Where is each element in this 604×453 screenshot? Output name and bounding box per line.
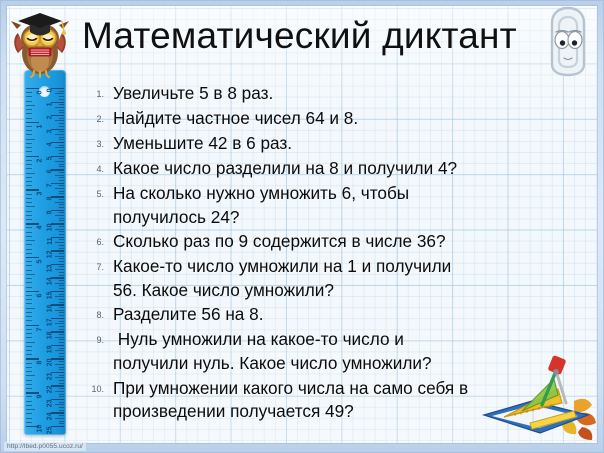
ruler-cm-minor-tick: [55, 418, 64, 419]
ruler-inch-label: 5: [37, 260, 44, 264]
ruler-inch-minor-tick: [26, 329, 32, 330]
ruler-cm-minor-tick: [59, 172, 65, 173]
ruler-cm-minor-tick: [59, 193, 65, 194]
ruler-inch-minor-tick: [26, 244, 32, 245]
ruler-cm-minor-tick: [59, 253, 65, 254]
ruler-inch-major-tick: [26, 122, 39, 123]
ruler-inch-minor-tick: [26, 282, 32, 283]
ruler-cm-minor-tick: [59, 402, 65, 403]
ruler-cm-minor-tick: [59, 272, 65, 273]
ruler-cm-minor-tick: [59, 139, 65, 140]
ruler-inch-minor-tick: [26, 367, 32, 368]
ruler-cm-label: 20: [47, 359, 54, 367]
ruler-inch-minor-tick: [26, 206, 35, 207]
ruler-inch-minor-tick: [26, 316, 32, 317]
ruler-inch-minor-tick: [26, 198, 32, 199]
ruler-inch-minor-tick: [26, 181, 32, 182]
list-item: 5. На сколько нужно умножить 6, чтобы по…: [78, 182, 548, 229]
ruler-cm-minor-tick: [59, 326, 65, 327]
ruler-inch-minor-tick: [26, 312, 32, 313]
ruler-cm-label: 4: [47, 143, 54, 147]
ruler-inch-minor-tick: [26, 194, 32, 195]
list-item-number: 6.: [78, 230, 113, 254]
ruler-cm-minor-tick: [55, 147, 64, 148]
ruler-cm-minor-tick: [59, 334, 65, 335]
ruler-cm-minor-tick: [59, 307, 65, 308]
ruler-inch-minor-tick: [26, 105, 35, 106]
ruler-cm-minor-tick: [59, 226, 65, 227]
ruler-inch-minor-tick: [26, 350, 32, 351]
ruler-inch-minor-tick: [26, 130, 32, 131]
list-item-number: 4.: [78, 157, 113, 181]
list-item-text: Сколько раз по 9 содержится в числе 36?: [113, 230, 548, 254]
ruler-cm-minor-tick: [59, 375, 65, 376]
ruler-cm-minor-tick: [59, 164, 65, 165]
ruler-cm-minor-tick: [55, 310, 64, 311]
ruler-cm-minor-tick: [55, 188, 64, 189]
ruler-inch-minor-tick: [26, 236, 32, 237]
ruler-cm-minor-tick: [59, 204, 65, 205]
ruler-cm-minor-tick: [59, 220, 65, 221]
ruler-inch-minor-tick: [26, 126, 32, 127]
ruler-cm-label: 11: [47, 237, 54, 244]
ruler-cm-minor-tick: [55, 229, 64, 230]
ruler-cm-minor-tick: [55, 202, 64, 203]
ruler-cm-label: 10: [47, 224, 54, 232]
ruler-cm-minor-tick: [55, 296, 64, 297]
ruler-cm-minor-tick: [59, 234, 65, 235]
ruler-inch-minor-tick: [26, 134, 32, 135]
ruler-inch-minor-tick: [26, 299, 32, 300]
list-item: 2. Найдите частное чисел 64 и 8.: [78, 107, 548, 131]
ruler-cm-minor-tick: [59, 99, 65, 100]
list-item-number: 5.: [78, 182, 113, 206]
ruler-cm-label: 6: [47, 170, 54, 174]
ruler-cm-minor-tick: [59, 321, 65, 322]
ruler-cm-minor-tick: [59, 312, 65, 313]
ruler-cm-minor-tick: [59, 91, 65, 92]
ruler-cm-label: 5: [47, 156, 54, 160]
ruler-cm-minor-tick: [59, 131, 65, 132]
ruler-cm-minor-tick: [59, 353, 65, 354]
ruler-cm-minor-tick: [59, 245, 65, 246]
ruler-cm-minor-tick: [59, 329, 65, 330]
ruler-inch-minor-tick: [26, 320, 32, 321]
ruler-cm-minor-tick: [59, 239, 65, 240]
ruler-inch-minor-tick: [26, 113, 32, 114]
ruler-cm-minor-tick: [59, 199, 65, 200]
ruler-inch-minor-tick: [26, 422, 32, 423]
ruler-inch-minor-tick: [26, 371, 32, 372]
ruler-inch-minor-tick: [26, 118, 32, 119]
ruler-cm-minor-tick: [59, 369, 65, 370]
ruler-cm-minor-tick: [59, 388, 65, 389]
ruler-cm-label: 0: [47, 89, 54, 93]
list-item-text: Уменьшите 42 в 6 раз.: [113, 132, 548, 156]
presentation-slide: Математический диктант 1. Увеличьте 5 в …: [0, 0, 604, 453]
ruler-inch-minor-tick: [26, 337, 32, 338]
paperclip-with-eyes-icon: [546, 4, 590, 78]
ruler-cm-minor-tick: [59, 153, 65, 154]
ruler-inch-major-tick: [26, 392, 39, 393]
ruler-inch-minor-tick: [26, 342, 35, 343]
page-title: Математический диктант: [82, 14, 512, 58]
list-item: 7. Какое-то число умножили на 1 и получи…: [78, 255, 548, 302]
ruler-inch-minor-tick: [26, 151, 32, 152]
ruler-cm-minor-tick: [59, 212, 65, 213]
ruler-cm-minor-tick: [59, 207, 65, 208]
ruler-cm-minor-tick: [59, 280, 65, 281]
ruler-inch-label: 1: [37, 124, 44, 128]
ruler-cm-minor-tick: [59, 150, 65, 151]
ruler-inch-minor-tick: [26, 405, 32, 406]
ruler-inch-minor-tick: [26, 409, 35, 410]
ruler-cm-label: 24: [47, 413, 54, 421]
ruler-inch-minor-tick: [26, 177, 32, 178]
ruler-cm-minor-tick: [59, 104, 65, 105]
ruler-inch-minor-tick: [26, 253, 32, 254]
ruler-cm-minor-tick: [59, 258, 65, 259]
ruler-cm-label: 22: [47, 386, 54, 394]
ruler-cm-minor-tick: [59, 145, 65, 146]
ruler-cm-label: 21: [47, 372, 54, 380]
ruler-inch-label: 4: [37, 226, 44, 230]
ruler-cm-minor-tick: [55, 404, 64, 405]
ruler-inch-minor-tick: [26, 168, 32, 169]
ruler-inch-minor-tick: [26, 139, 35, 140]
ruler-cm-label: 15: [47, 291, 54, 299]
ruler-decoration: 012345678910 012345678910111213141516171…: [24, 70, 66, 435]
ruler-cm-minor-tick: [59, 191, 65, 192]
ruler-cm-label: 18: [47, 332, 54, 340]
ruler-cm-minor-tick: [59, 218, 65, 219]
ruler-cm-minor-tick: [59, 383, 65, 384]
ruler-cm-minor-tick: [59, 126, 65, 127]
ruler-inch-minor-tick: [26, 227, 32, 228]
ruler-cm-minor-tick: [59, 185, 65, 186]
school-supplies-icon: [470, 349, 598, 445]
ruler-inch-minor-tick: [26, 92, 32, 93]
ruler-cm-minor-tick: [59, 367, 65, 368]
ruler-cm-label: 12: [47, 251, 54, 259]
ruler-inch-minor-tick: [26, 396, 32, 397]
list-item-number: 10.: [78, 377, 113, 401]
ruler-inch-minor-tick: [26, 380, 32, 381]
ruler-inch-label: 0: [37, 91, 44, 95]
ruler-cm-minor-tick: [59, 361, 65, 362]
ruler-inch-minor-tick: [26, 418, 32, 419]
ruler-inch-minor-tick: [26, 413, 32, 414]
ruler-inch-minor-tick: [26, 303, 32, 304]
ruler-inch-minor-tick: [26, 232, 32, 233]
ruler-inch-minor-tick: [26, 147, 32, 148]
ruler-cm-minor-tick: [59, 396, 65, 397]
ruler-inch-minor-tick: [26, 270, 32, 271]
ruler-cm-minor-tick: [55, 215, 64, 216]
ruler-cm-minor-tick: [59, 394, 65, 395]
ruler-inch-minor-tick: [26, 249, 32, 250]
ruler-inch-minor-tick: [26, 96, 32, 97]
ruler-cm-minor-tick: [55, 350, 64, 351]
ruler-cm-minor-tick: [59, 166, 65, 167]
ruler-inch-minor-tick: [26, 363, 32, 364]
ruler-cm-label: 17: [47, 318, 54, 326]
ruler-cm-minor-tick: [59, 266, 65, 267]
list-item-number: 2.: [78, 107, 113, 131]
ruler-cm-minor-tick: [59, 110, 65, 111]
ruler-cm-minor-tick: [55, 256, 64, 257]
ruler-inch-minor-tick: [26, 295, 32, 296]
ruler-cm-label: 3: [47, 129, 54, 133]
owl-in-graduation-cap-icon: [9, 7, 71, 79]
ruler-cm-label: 8: [47, 197, 54, 201]
ruler-cm-minor-tick: [55, 161, 64, 162]
ruler-cm-minor-tick: [55, 391, 64, 392]
ruler-cm-minor-tick: [59, 231, 65, 232]
list-item: 4. Какое число разделили на 8 и получили…: [78, 157, 548, 181]
ruler-inch-minor-tick: [26, 101, 32, 102]
ruler-inch-minor-tick: [26, 278, 32, 279]
ruler-inch-major-tick: [26, 223, 39, 224]
list-item-number: 1.: [78, 82, 113, 106]
ruler-inch-minor-tick: [26, 388, 32, 389]
ruler-cm-minor-tick: [59, 275, 65, 276]
ruler-inch-major-tick: [26, 156, 39, 157]
ruler-inch-minor-tick: [26, 219, 32, 220]
ruler-cm-minor-tick: [59, 410, 65, 411]
ruler-cm-minor-tick: [59, 421, 65, 422]
ruler-inch-minor-tick: [26, 211, 32, 212]
ruler-cm-minor-tick: [59, 380, 65, 381]
list-item: 1. Увеличьте 5 в 8 раз.: [78, 82, 548, 106]
ruler-cm-minor-tick: [59, 118, 65, 119]
ruler-cm-minor-tick: [59, 356, 65, 357]
ruler-inch-minor-tick: [26, 202, 32, 203]
ruler-cm-minor-tick: [55, 323, 64, 324]
ruler-inch-minor-tick: [26, 240, 35, 241]
ruler-cm-minor-tick: [59, 96, 65, 97]
ruler-inch-label: 7: [37, 327, 44, 331]
list-item-text: Какое число разделили на 8 и получили 4?: [113, 157, 548, 181]
ruler-cm-label: 9: [47, 210, 54, 214]
ruler-cm-minor-tick: [55, 283, 64, 284]
ruler-cm-minor-tick: [59, 261, 65, 262]
ruler-cm-minor-tick: [59, 285, 65, 286]
ruler-cm-label: 16: [47, 305, 54, 313]
ruler-cm-minor-tick: [55, 107, 64, 108]
list-item: 8. Разделите 56 на 8.: [78, 303, 548, 327]
list-item-text: На сколько нужно умножить 6, чтобы получ…: [113, 182, 548, 229]
ruler-cm-minor-tick: [55, 120, 64, 121]
ruler-inch-minor-tick: [26, 160, 32, 161]
ruler-inch-minor-tick: [26, 354, 32, 355]
ruler-inch-major-tick: [26, 291, 39, 292]
ruler-inch-minor-tick: [26, 261, 32, 262]
list-item-text: Увеличьте 5 в 8 раз.: [113, 82, 548, 106]
ruler-inch-minor-tick: [26, 215, 32, 216]
watermark-url: http://lbed.p0055.ucoz.ru/: [4, 442, 86, 451]
list-item-text: Найдите частное чисел 64 и 8.: [113, 107, 548, 131]
ruler-inch-label: 2: [37, 158, 44, 162]
ruler-inch-minor-tick: [26, 109, 32, 110]
ruler-inch-minor-tick: [26, 375, 35, 376]
ruler-cm-minor-tick: [59, 123, 65, 124]
ruler-inch-major-tick: [26, 257, 39, 258]
ruler-cm-label: 25: [47, 427, 54, 435]
ruler-cm-minor-tick: [55, 337, 64, 338]
list-item-text: Какое-то число умножили на 1 и получили …: [113, 255, 548, 302]
ruler-cm-minor-tick: [55, 364, 64, 365]
ruler-inch-minor-tick: [26, 333, 32, 334]
ruler-cm-label: 23: [47, 399, 54, 407]
ruler-inch-minor-tick: [26, 308, 35, 309]
ruler-inch-minor-tick: [26, 274, 35, 275]
ruler-cm-minor-tick: [59, 158, 65, 159]
ruler-cm-minor-tick: [55, 175, 64, 176]
ruler-inch-minor-tick: [26, 143, 32, 144]
ruler-cm-label: 13: [47, 264, 54, 272]
ruler-cm-minor-tick: [59, 112, 65, 113]
list-item: 6. Сколько раз по 9 содержится в числе 3…: [78, 230, 548, 254]
ruler-inch-major-tick: [26, 88, 39, 89]
ruler-cm-minor-tick: [59, 288, 65, 289]
ruler-cm-minor-tick: [59, 177, 65, 178]
ruler-inch-minor-tick: [26, 384, 32, 385]
ruler-cm-minor-tick: [55, 93, 64, 94]
ruler-inch-minor-tick: [26, 287, 32, 288]
ruler-inch-label: 3: [37, 192, 44, 196]
ruler-inch-minor-tick: [26, 346, 32, 347]
ruler-cm-minor-tick: [55, 269, 64, 270]
ruler-cm-minor-tick: [59, 342, 65, 343]
ruler-inch-minor-tick: [26, 401, 32, 402]
ruler-cm-label: 7: [47, 183, 54, 187]
list-item-text: Разделите 56 на 8.: [113, 303, 548, 327]
ruler-cm-label: 2: [47, 116, 54, 120]
ruler-cm-label: 14: [47, 278, 54, 286]
ruler-inch-minor-tick: [26, 265, 32, 266]
ruler-cm-minor-tick: [55, 377, 64, 378]
ruler-cm-minor-tick: [59, 137, 65, 138]
list-item-number: 3.: [78, 132, 113, 156]
ruler-cm-minor-tick: [59, 407, 65, 408]
ruler-inch-label: 8: [37, 361, 44, 365]
ruler-cm-minor-tick: [59, 302, 65, 303]
ruler-inch-minor-tick: [26, 185, 32, 186]
list-item-number: 8.: [78, 303, 113, 327]
list-item-number: 7.: [78, 255, 113, 279]
ruler-cm-label: 1: [47, 102, 54, 106]
ruler-cm-minor-tick: [59, 248, 65, 249]
ruler-cm-minor-tick: [59, 299, 65, 300]
ruler-inch-minor-tick: [26, 164, 32, 165]
ruler-cm-minor-tick: [59, 315, 65, 316]
ruler-cm-minor-tick: [59, 348, 65, 349]
ruler-cm-minor-tick: [59, 180, 65, 181]
ruler-cm-label: 19: [47, 345, 54, 353]
ruler-inch-label: 6: [37, 293, 44, 297]
ruler-cm-minor-tick: [59, 294, 65, 295]
list-item-number: 9.: [78, 328, 113, 352]
ruler-inch-label: 9: [37, 395, 44, 399]
ruler-cm-minor-tick: [55, 242, 64, 243]
ruler-cm-minor-tick: [59, 423, 65, 424]
ruler-cm-minor-tick: [59, 415, 65, 416]
ruler-cm-minor-tick: [55, 134, 64, 135]
list-item: 3. Уменьшите 42 в 6 раз.: [78, 132, 548, 156]
ruler-cm-minor-tick: [59, 339, 65, 340]
ruler-inch-label: 10: [37, 425, 44, 433]
ruler-inch-minor-tick: [26, 173, 35, 174]
ruler-inch-major-tick: [26, 325, 39, 326]
